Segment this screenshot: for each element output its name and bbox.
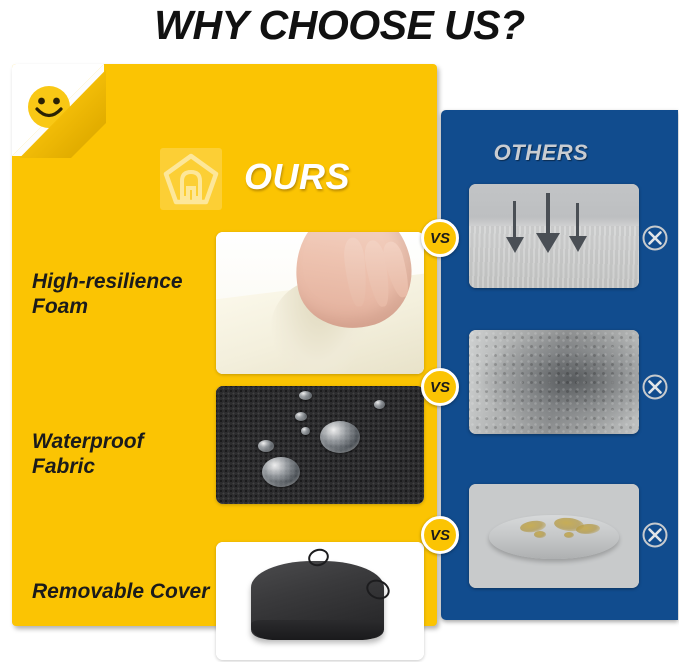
others-feature-image-2: [469, 330, 639, 434]
stain-spot: [534, 531, 546, 538]
vs-badge-icon: VS: [421, 516, 459, 554]
ours-feature-image-2: [216, 386, 424, 504]
house-pentagon-logo-icon: [160, 148, 222, 210]
others-feature-image-3: [469, 484, 639, 588]
water-droplets-on-fabric-photo: [216, 386, 424, 504]
water-droplet: [299, 391, 312, 400]
vs-badge-icon: VS: [421, 219, 459, 257]
ours-feature-image-1: [216, 232, 424, 374]
hand-pressing-foam-photo: [216, 232, 424, 374]
down-arrow-icon: [546, 193, 550, 242]
circle-x-icon: [641, 373, 669, 401]
feature-label-removable-cover: Removable Cover: [32, 580, 212, 605]
circle-x-icon: [641, 521, 669, 549]
page-title: WHY CHOOSE US?: [0, 2, 679, 49]
ours-feature-image-3: [216, 542, 424, 660]
water-droplet: [320, 421, 360, 453]
water-droplet: [262, 457, 300, 487]
down-arrow-icon: [513, 201, 516, 243]
water-droplet: [301, 427, 310, 435]
black-cushion-with-ties-photo: [216, 542, 424, 660]
water-droplet: [374, 400, 385, 409]
circle-x-icon: [641, 224, 669, 252]
feature-label-waterproof-fabric: Waterproof Fabric: [32, 430, 212, 480]
stained-cushion-photo: [469, 484, 639, 588]
feature-label-high-resilience-foam: High-resilience Foam: [32, 270, 212, 320]
vs-badge-icon: VS: [421, 368, 459, 406]
others-panel-title: OTHERS: [441, 140, 641, 166]
cushion-side: [251, 620, 384, 640]
water-droplet: [258, 440, 274, 452]
ours-panel: OURS High-resilience Foam Waterproof Fab…: [12, 64, 437, 626]
water-droplet: [295, 412, 307, 421]
ours-panel-title: OURS: [244, 156, 350, 198]
down-arrow-icon: [576, 203, 579, 241]
others-feature-image-1: [469, 184, 639, 288]
stain-spot: [564, 532, 574, 538]
soaked-gray-fabric-photo: [469, 330, 639, 434]
